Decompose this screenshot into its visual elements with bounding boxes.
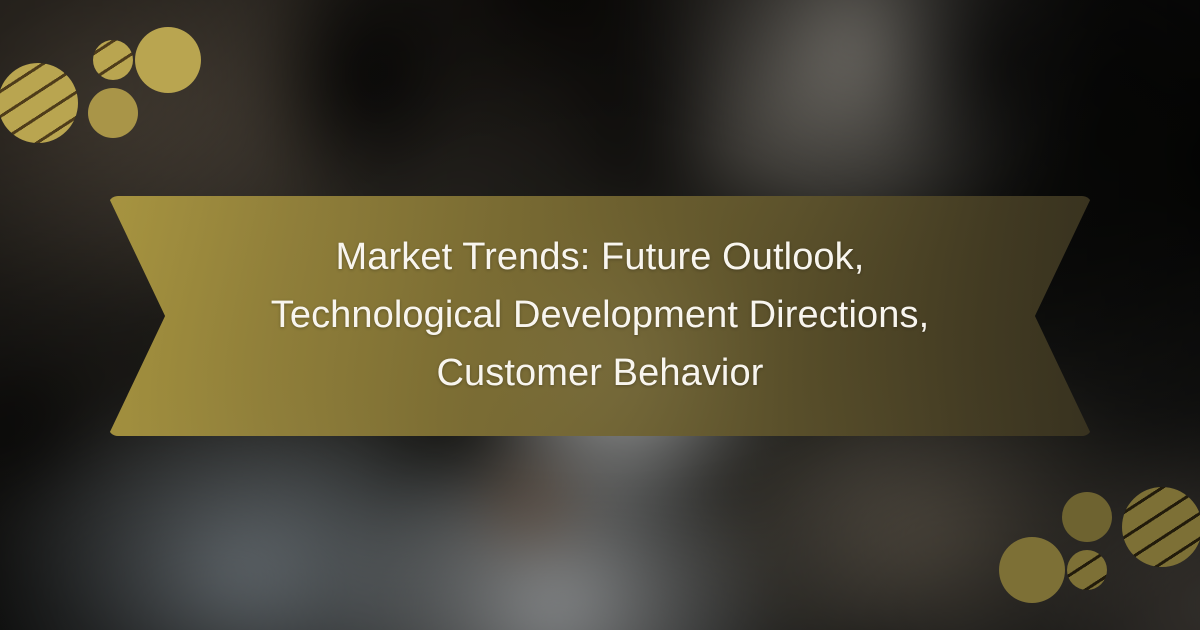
circle-large-striped-icon	[1122, 487, 1200, 567]
circle-large-plain-icon	[999, 537, 1065, 603]
circle-large-striped-icon	[0, 63, 78, 143]
circle-medium-plain-icon	[88, 88, 138, 138]
title-banner: Market Trends: Future Outlook, Technolog…	[108, 196, 1092, 436]
page-title: Market Trends: Future Outlook, Technolog…	[228, 229, 972, 402]
circle-small-striped-icon	[1067, 550, 1107, 590]
circle-small-striped-icon	[93, 40, 133, 80]
circle-medium-plain-icon	[1062, 492, 1112, 542]
og-card: Market Trends: Future Outlook, Technolog…	[0, 0, 1200, 630]
circle-large-plain-icon	[135, 27, 201, 93]
decoration-cluster-bottom-right	[990, 480, 1200, 630]
banner-text-area: Market Trends: Future Outlook, Technolog…	[108, 196, 1092, 436]
decoration-cluster-top-left	[0, 0, 210, 150]
